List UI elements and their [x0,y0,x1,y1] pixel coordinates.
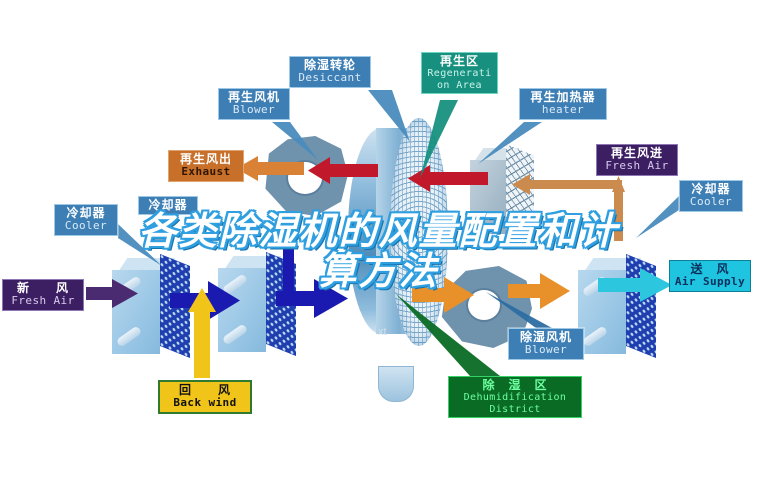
label-cn: 再生加热器 [524,91,602,104]
label-desiccant-rotor[interactable]: 除湿转轮 Desiccant [289,56,371,88]
label-cn: 送 风 [674,263,746,276]
coil-hatched-face [266,252,296,356]
label-en: Regenerati on Area [426,68,493,90]
label-cn: 冷却器 [684,183,738,196]
heater-body [470,160,506,234]
label-en: Exhaust [173,166,239,178]
label-cn: 回 风 [164,384,246,397]
label-cn: 再生风出 [173,153,239,166]
label-cn: 再生区 [426,55,493,68]
label-en: Fresh Air [601,160,673,172]
arrow-regen-fresh-up [612,176,625,241]
label-air-supply[interactable]: 送 风 Air Supply [669,260,751,292]
label-cn: 再生风机 [223,91,285,104]
label-en: Cooler [684,196,738,208]
label-cn: 新 风 [7,282,79,295]
label-en: Blower [513,344,579,356]
label-supply-fresh-air[interactable]: 新 风 Fresh Air [2,279,84,311]
label-cn: 冷却器 [59,207,113,220]
label-cn: 除 湿 区 [453,379,577,392]
label-en: Cooler [59,220,113,232]
heater-mesh-face [506,144,534,237]
label-cooler-left-2[interactable]: 冷却器 [138,196,198,215]
coil-hatched-face [626,254,656,358]
label-cn: 冷却器 [143,199,193,212]
label-en: Blower [223,104,285,116]
cooling-coil-left-1 [112,258,204,368]
coil-hatched-face [160,254,190,358]
regeneration-heater-unit [470,148,580,258]
label-en: heater [524,104,602,116]
label-regeneration-area[interactable]: 再生区 Regenerati on Area [421,52,498,94]
label-en: Back wind [164,397,246,409]
leader-cooler-right [636,196,679,238]
label-back-wind[interactable]: 回 风 Back wind [158,380,252,414]
label-cn: 除湿转轮 [294,59,366,72]
label-dehumidify-blower[interactable]: 除湿风机 Blower [508,328,584,360]
label-en: Fresh Air [7,295,79,307]
label-regeneration-exhaust[interactable]: 再生风出 Exhaust [168,150,244,182]
label-en: Air Supply [674,276,746,288]
label-regeneration-blower[interactable]: 再生风机 Blower [218,88,290,120]
cooling-coil-left-2 [218,256,310,366]
label-regeneration-fresh-air[interactable]: 再生风进 Fresh Air [596,144,678,176]
label-en: Dehumidification District [453,392,577,414]
cooling-coil-supply [578,258,670,368]
rotor-watermark: xt [378,326,387,338]
dehumidify-blower-inlet [466,288,502,322]
label-en: Desiccant [294,72,366,84]
label-regeneration-heater[interactable]: 再生加热器 heater [519,88,607,120]
dehumidifier-airflow-diagram: 除湿转轮 Desiccant 再生风机 Blower 再生区 Regenerat… [0,0,757,488]
rotor-drive-belt [378,366,414,402]
label-cooler-left-1[interactable]: 冷却器 Cooler [54,204,118,236]
label-dehumidification-district[interactable]: 除 湿 区 Dehumidification District [448,376,582,418]
regeneration-blower-inlet [286,160,324,196]
rotor-honeycomb-face [390,118,448,346]
label-cn: 再生风进 [601,147,673,160]
label-cooler-right[interactable]: 冷却器 Cooler [679,180,743,212]
label-cn: 除湿风机 [513,331,579,344]
